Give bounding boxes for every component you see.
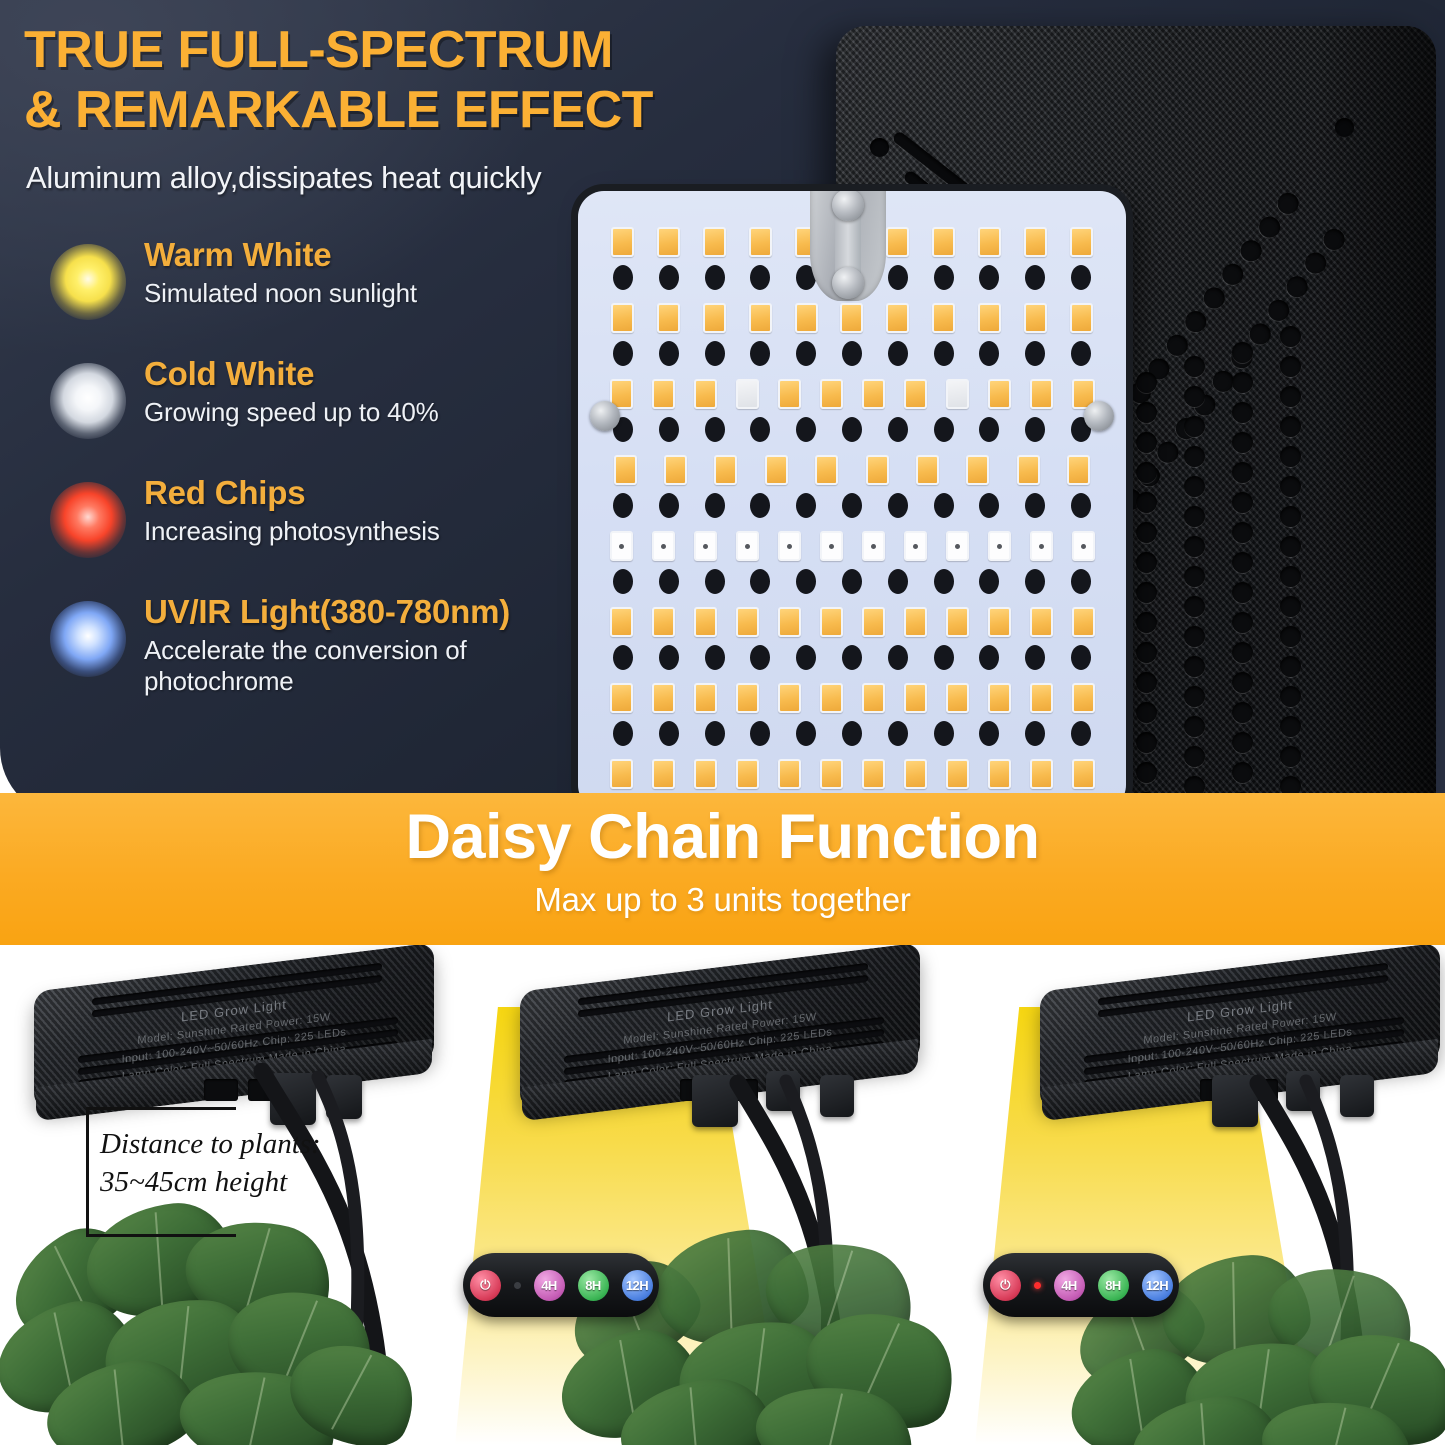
housing-edge-shadow <box>1316 26 1436 816</box>
distance-line-1: Distance to plants: <box>100 1125 400 1163</box>
feature-item-uv-ir: UV/IR Light(380-780nm) Accelerate the co… <box>46 589 606 708</box>
feature-item-red-chips: Red Chips Increasing photosynthesis <box>46 470 606 589</box>
screw-icon <box>590 401 620 431</box>
timer-12h-button[interactable]: 12H <box>1142 1270 1173 1301</box>
timer-4h-button[interactable]: 4H <box>1054 1270 1085 1301</box>
plant-middle <box>560 1215 990 1445</box>
power-button[interactable]: ⏻ <box>990 1270 1021 1301</box>
status-led <box>514 1282 521 1289</box>
daisy-chain-banner: Daisy Chain Function Max up to 3 units t… <box>0 793 1445 945</box>
uv-ir-led-dot <box>50 601 126 677</box>
red-chip-led-dot <box>50 482 126 558</box>
controller-middle[interactable]: ⏻ 4H 8H 12H <box>463 1253 659 1317</box>
timer-8h-button[interactable]: 8H <box>1098 1270 1129 1301</box>
headline-line-2: & REMARKABLE EFFECT <box>24 80 754 140</box>
feature-description: Growing speed up to 40% <box>144 397 439 428</box>
vent-hole-column <box>1232 342 1253 816</box>
power-button[interactable]: ⏻ <box>470 1270 501 1301</box>
status-led <box>1034 1282 1041 1289</box>
daisy-chain-scene: LED Grow Light Model: Sunshine Rated Pow… <box>0 945 1445 1445</box>
distance-annotation: Distance to plants: 35~45cm height <box>100 1125 400 1202</box>
feature-item-cold-white: Cold White Growing speed up to 40% <box>46 351 606 470</box>
timer-8h-button[interactable]: 8H <box>578 1270 609 1301</box>
feature-list: Warm White Simulated noon sunlight Cold … <box>46 232 606 708</box>
warm-white-led-dot <box>50 244 126 320</box>
mounting-bracket <box>810 191 886 301</box>
led-panel-front-image <box>578 191 1126 811</box>
feature-item-warm-white: Warm White Simulated noon sunlight <box>46 232 606 351</box>
vent-hole-column <box>1184 356 1205 816</box>
feature-title: Warm White <box>144 236 331 274</box>
feature-title: Red Chips <box>144 474 305 512</box>
feature-title: UV/IR Light(380-780nm) <box>144 593 510 631</box>
timer-4h-button[interactable]: 4H <box>534 1270 565 1301</box>
controller-right[interactable]: ⏻ 4H 8H 12H <box>983 1253 1179 1317</box>
feature-description: Increasing photosynthesis <box>144 516 440 547</box>
screw-icon <box>1084 401 1114 431</box>
top-feature-panel: TRUE FULL-SPECTRUM & REMARKABLE EFFECT A… <box>0 0 1445 818</box>
screw-icon <box>832 267 864 299</box>
product-infographic: TRUE FULL-SPECTRUM & REMARKABLE EFFECT A… <box>0 0 1445 1445</box>
banner-title: Daisy Chain Function <box>0 801 1445 873</box>
mount-hole-icon <box>870 138 889 157</box>
page-title: TRUE FULL-SPECTRUM & REMARKABLE EFFECT <box>24 20 754 141</box>
vent-hole-column <box>1280 326 1301 816</box>
banner-subtitle: Max up to 3 units together <box>0 881 1445 919</box>
vent-hole-column <box>1136 372 1157 816</box>
headline-line-1: TRUE FULL-SPECTRUM <box>24 21 613 79</box>
distance-line-2: 35~45cm height <box>100 1163 400 1201</box>
cold-white-led-dot <box>50 363 126 439</box>
timer-12h-button[interactable]: 12H <box>622 1270 653 1301</box>
feature-description: Simulated noon sunlight <box>144 278 417 309</box>
feature-description: Accelerate the conversion of photochrome <box>144 635 606 697</box>
feature-title: Cold White <box>144 355 314 393</box>
